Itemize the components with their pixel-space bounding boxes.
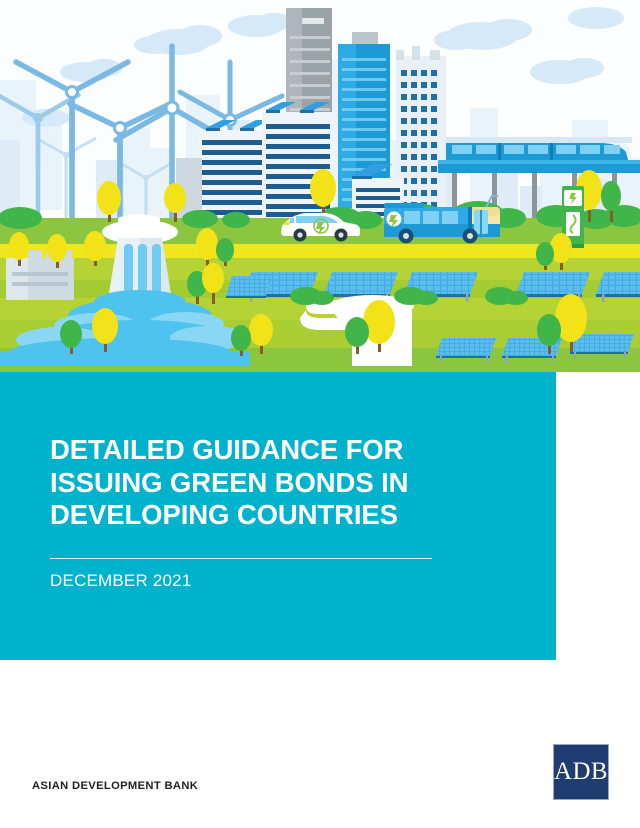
- title-line-3: DEVELOPING COUNTRIES: [50, 499, 450, 532]
- title-line-1: DETAILED GUIDANCE FOR: [50, 434, 450, 467]
- publisher-name: ASIAN DEVELOPMENT BANK: [32, 780, 198, 792]
- title-panel: DETAILED GUIDANCE FOR ISSUING GREEN BOND…: [0, 372, 556, 660]
- page-title: DETAILED GUIDANCE FOR ISSUING GREEN BOND…: [50, 434, 450, 532]
- train-track: [438, 163, 640, 173]
- adb-logo: ADB: [553, 744, 609, 800]
- title-divider: [50, 558, 432, 559]
- document-cover: DETAILED GUIDANCE FOR ISSUING GREEN BOND…: [0, 0, 640, 828]
- cover-illustration: [0, 0, 640, 372]
- office-building-left: [198, 120, 272, 222]
- publication-date: DECEMBER 2021: [50, 570, 192, 592]
- title-line-2: ISSUING GREEN BONDS IN: [50, 467, 450, 500]
- adb-logo-text: ADB: [554, 759, 608, 784]
- solar-panel-small: [226, 276, 272, 298]
